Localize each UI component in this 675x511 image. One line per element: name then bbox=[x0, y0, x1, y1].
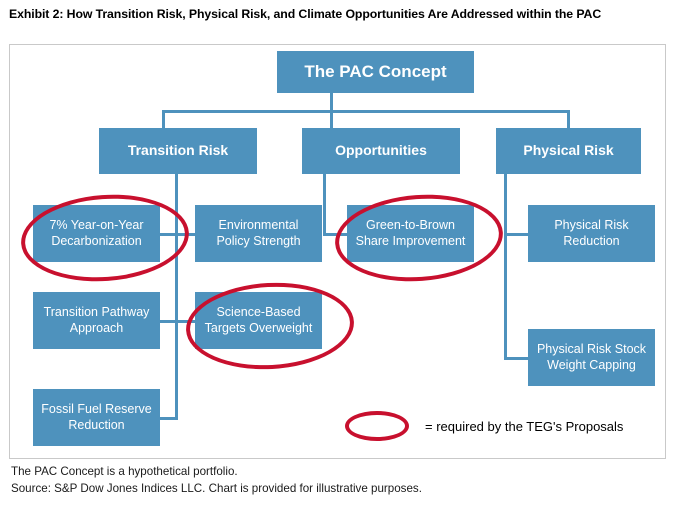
connector-level2-bus bbox=[162, 110, 570, 113]
node-label-line2: Weight Capping bbox=[537, 358, 646, 374]
node-label-line2: Reduction bbox=[41, 418, 151, 434]
node-label-line1: Science-Based bbox=[205, 305, 313, 321]
node-label-line1: Green-to-Brown bbox=[356, 218, 466, 234]
connector-drop-opportunities bbox=[330, 110, 333, 128]
node-fossil-fuel-reserve-reduction[interactable]: Fossil Fuel Reserve Reduction bbox=[33, 389, 160, 446]
node-label-line2: Decarbonization bbox=[49, 234, 143, 250]
node-label-line2: Targets Overweight bbox=[205, 321, 313, 337]
node-transition-risk[interactable]: Transition Risk bbox=[99, 128, 257, 174]
node-label: The PAC Concept bbox=[298, 61, 452, 82]
node-science-based-targets-overweight[interactable]: Science-Based Targets Overweight bbox=[195, 292, 322, 349]
node-transition-pathway-approach[interactable]: Transition Pathway Approach bbox=[33, 292, 160, 349]
legend-label: = required by the TEG's Proposals bbox=[425, 419, 623, 434]
footnote-source: Source: S&P Dow Jones Indices LLC. Chart… bbox=[11, 481, 422, 498]
node-label-line1: Transition Pathway bbox=[44, 305, 150, 321]
connector-trunk-physical-risk bbox=[504, 172, 507, 360]
footnote-disclaimer: The PAC Concept is a hypothetical portfo… bbox=[11, 464, 422, 481]
node-label-line1: Fossil Fuel Reserve bbox=[41, 402, 151, 418]
connector-drop-transition-risk bbox=[162, 110, 165, 128]
node-environmental-policy-strength[interactable]: Environmental Policy Strength bbox=[195, 205, 322, 262]
connector-trunk-opportunities bbox=[323, 172, 326, 235]
node-label: Opportunities bbox=[329, 142, 433, 160]
legend-oval-icon bbox=[345, 411, 409, 441]
node-label: Transition Risk bbox=[122, 142, 234, 160]
connector-stub-fossil-fuel bbox=[160, 417, 178, 420]
node-physical-risk[interactable]: Physical Risk bbox=[496, 128, 641, 174]
node-label-line1: Physical Risk bbox=[554, 218, 628, 234]
exhibit-page: Exhibit 2: How Transition Risk, Physical… bbox=[0, 0, 675, 511]
node-label-line2: Share Improvement bbox=[356, 234, 466, 250]
connector-stub-environmental-policy bbox=[175, 233, 195, 236]
node-label-line1: Environmental bbox=[216, 218, 300, 234]
connector-stub-decarbonization bbox=[160, 233, 176, 236]
node-green-to-brown-share-improvement[interactable]: Green-to-Brown Share Improvement bbox=[347, 205, 474, 262]
node-label-line2: Reduction bbox=[554, 234, 628, 250]
connector-stub-physical-risk-stock-capping bbox=[504, 357, 528, 360]
node-decarbonization[interactable]: 7% Year-on-Year Decarbonization bbox=[33, 205, 160, 262]
connector-trunk-transition-risk bbox=[175, 172, 178, 420]
connector-stub-physical-risk-reduction bbox=[504, 233, 528, 236]
node-opportunities[interactable]: Opportunities bbox=[302, 128, 460, 174]
node-pac-concept[interactable]: The PAC Concept bbox=[277, 51, 474, 93]
legend: = required by the TEG's Proposals bbox=[345, 411, 623, 441]
footnotes: The PAC Concept is a hypothetical portfo… bbox=[11, 464, 422, 498]
node-physical-risk-stock-weight-capping[interactable]: Physical Risk Stock Weight Capping bbox=[528, 329, 655, 386]
chart-frame: The PAC Concept Transition Risk Opportun… bbox=[9, 44, 666, 459]
connector-stub-green-to-brown bbox=[323, 233, 347, 236]
connector-stub-transition-pathway bbox=[160, 320, 176, 323]
node-label-line1: Physical Risk Stock bbox=[537, 342, 646, 358]
connector-stub-science-based-targets bbox=[175, 320, 195, 323]
connector-drop-physical-risk bbox=[567, 110, 570, 128]
node-label-line2: Approach bbox=[44, 321, 150, 337]
node-label-line2: Policy Strength bbox=[216, 234, 300, 250]
page-title: Exhibit 2: How Transition Risk, Physical… bbox=[9, 6, 667, 23]
node-label-line1: 7% Year-on-Year bbox=[49, 218, 143, 234]
node-physical-risk-reduction[interactable]: Physical Risk Reduction bbox=[528, 205, 655, 262]
node-label: Physical Risk bbox=[517, 142, 619, 160]
connector-root-stem bbox=[330, 92, 333, 112]
